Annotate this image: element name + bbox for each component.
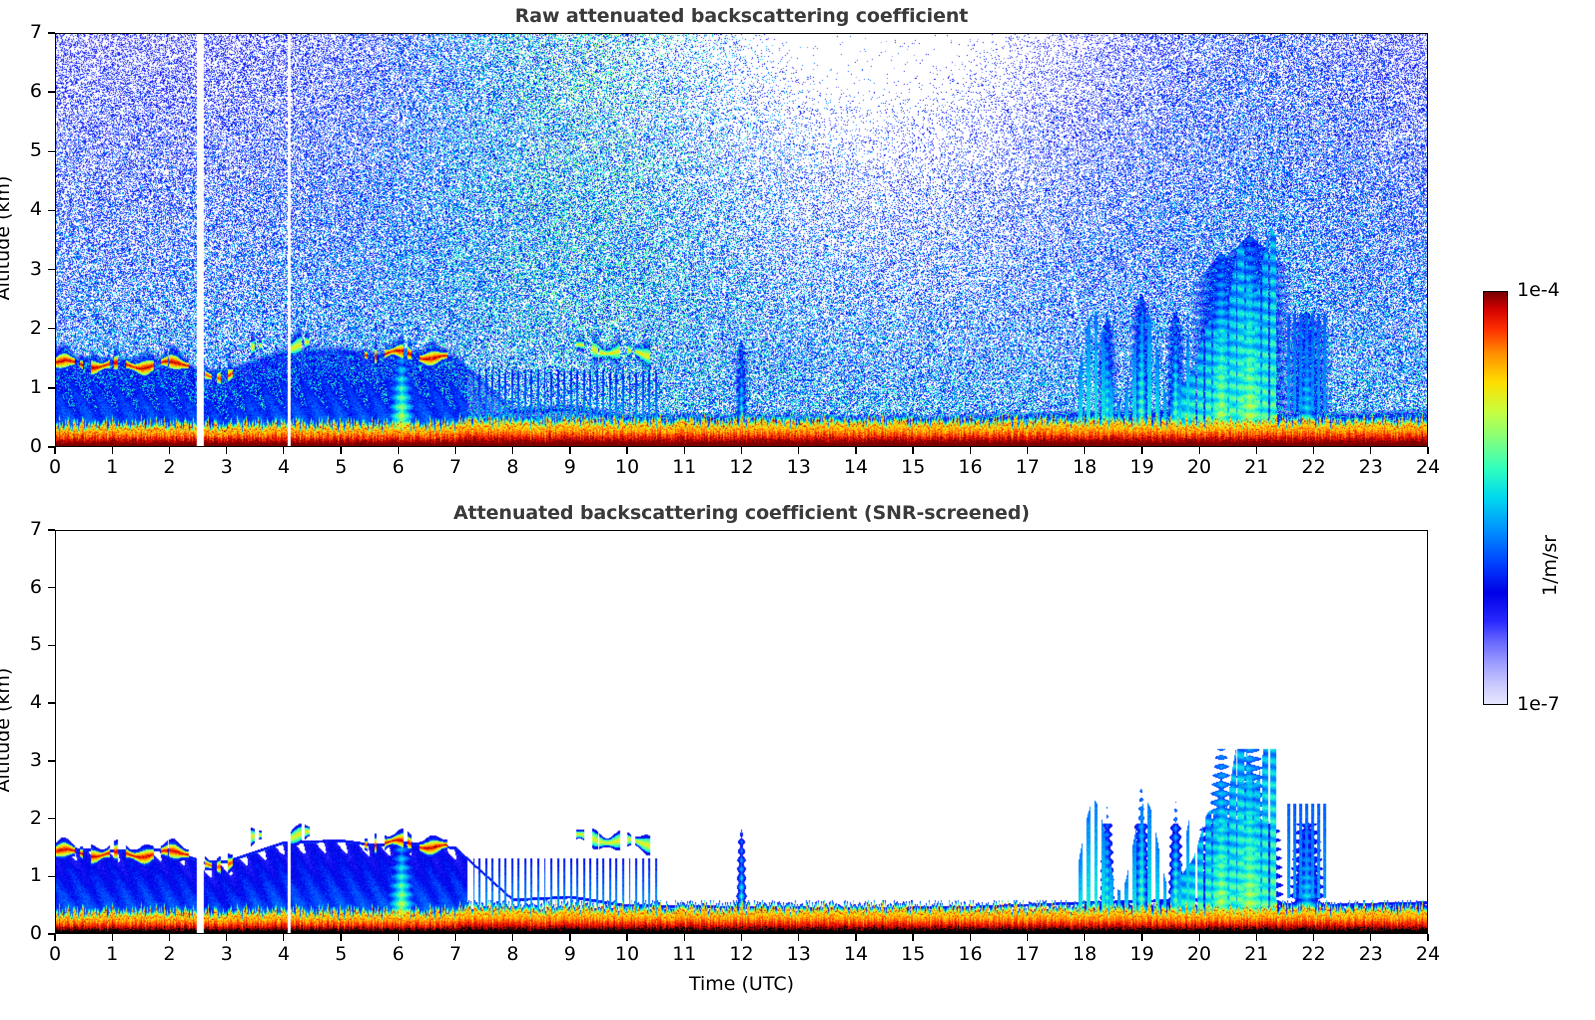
x-tick — [912, 934, 913, 941]
x-tick — [1141, 447, 1142, 454]
x-tick — [912, 447, 913, 454]
x-tick-label: 14 — [832, 943, 880, 965]
x-tick-label: 9 — [546, 456, 594, 478]
x-tick — [1199, 447, 1200, 454]
y-tick — [48, 587, 55, 588]
y-tick — [48, 151, 55, 152]
y-tick-label: 1 — [0, 864, 42, 886]
x-tick — [970, 934, 971, 941]
x-tick — [112, 934, 113, 941]
x-tick-label: 2 — [145, 456, 193, 478]
x-tick — [1084, 934, 1085, 941]
x-tick — [970, 447, 971, 454]
panel-title-screened: Attenuated backscattering coefficient (S… — [55, 502, 1428, 524]
x-tick — [741, 934, 742, 941]
x-tick — [569, 934, 570, 941]
colorbar-min-label: 1e-7 — [1517, 693, 1560, 715]
x-tick-label: 5 — [317, 456, 365, 478]
x-tick — [455, 934, 456, 941]
y-tick-label: 4 — [0, 198, 42, 220]
x-tick-label: 8 — [489, 456, 537, 478]
x-tick-label: 23 — [1347, 456, 1395, 478]
x-tick-label: 17 — [1004, 943, 1052, 965]
y-tick — [48, 818, 55, 819]
y-tick-label: 0 — [0, 435, 42, 457]
x-tick-label: 4 — [260, 943, 308, 965]
x-tick — [855, 447, 856, 454]
x-tick — [512, 934, 513, 941]
x-tick-label: 14 — [832, 456, 880, 478]
x-tick-label: 18 — [1061, 456, 1109, 478]
y-tick-label: 7 — [0, 21, 42, 43]
figure-root: Raw attenuated backscattering coefficien… — [0, 0, 1595, 1020]
x-tick-label: 21 — [1232, 943, 1280, 965]
x-tick — [226, 934, 227, 941]
x-tick — [169, 447, 170, 454]
x-tick — [398, 447, 399, 454]
x-tick — [455, 447, 456, 454]
x-tick-label: 22 — [1290, 456, 1338, 478]
x-tick — [1027, 934, 1028, 941]
x-tick-label: 0 — [31, 943, 79, 965]
x-tick — [1084, 447, 1085, 454]
x-tick-label: 13 — [775, 456, 823, 478]
x-tick-label: 0 — [31, 456, 79, 478]
colorbar-max-label: 1e-4 — [1517, 279, 1560, 301]
heatmap-canvas-screened — [56, 531, 1427, 933]
colorbar-gradient — [1484, 292, 1507, 704]
y-tick — [48, 269, 55, 270]
y-tick-label: 3 — [0, 258, 42, 280]
x-tick — [398, 934, 399, 941]
x-tick-label: 12 — [718, 943, 766, 965]
x-tick — [340, 447, 341, 454]
x-tick — [1427, 934, 1428, 941]
x-tick — [54, 934, 55, 941]
x-tick-label: 6 — [374, 456, 422, 478]
y-tick-label: 0 — [0, 922, 42, 944]
y-tick-label: 3 — [0, 749, 42, 771]
x-tick-label: 10 — [603, 943, 651, 965]
y-tick — [48, 328, 55, 329]
x-tick — [112, 447, 113, 454]
x-tick-label: 11 — [660, 943, 708, 965]
x-tick — [1370, 934, 1371, 941]
y-tick — [48, 645, 55, 646]
y-tick-label: 2 — [0, 807, 42, 829]
x-tick — [1256, 447, 1257, 454]
x-tick — [226, 447, 227, 454]
x-tick-label: 5 — [317, 943, 365, 965]
y-tick — [48, 702, 55, 703]
x-tick — [1427, 447, 1428, 454]
x-tick-label: 8 — [489, 943, 537, 965]
x-tick-label: 16 — [946, 943, 994, 965]
x-tick-label: 22 — [1290, 943, 1338, 965]
x-tick-label: 2 — [145, 943, 193, 965]
colorbar[interactable] — [1483, 291, 1508, 705]
y-tick-label: 5 — [0, 139, 42, 161]
y-tick — [48, 32, 55, 33]
x-tick — [1370, 447, 1371, 454]
y-tick-label: 6 — [0, 80, 42, 102]
x-tick-label: 10 — [603, 456, 651, 478]
y-tick — [48, 387, 55, 388]
x-tick-label: 11 — [660, 456, 708, 478]
x-tick — [798, 447, 799, 454]
y-tick-label: 7 — [0, 518, 42, 540]
y-tick — [48, 933, 55, 934]
x-tick-label: 21 — [1232, 456, 1280, 478]
x-tick-label: 18 — [1061, 943, 1109, 965]
x-tick-label: 19 — [1118, 943, 1166, 965]
x-tick-label: 15 — [889, 943, 937, 965]
x-tick-label: 24 — [1404, 456, 1452, 478]
y-tick-label: 1 — [0, 376, 42, 398]
x-tick — [684, 934, 685, 941]
y-tick — [48, 446, 55, 447]
x-tick-label: 3 — [203, 456, 251, 478]
y-tick — [48, 210, 55, 211]
x-tick — [626, 934, 627, 941]
y-tick — [48, 760, 55, 761]
x-tick — [741, 447, 742, 454]
x-tick-label: 20 — [1175, 943, 1223, 965]
x-tick — [283, 934, 284, 941]
x-tick — [1313, 447, 1314, 454]
x-tick-label: 24 — [1404, 943, 1452, 965]
heatmap-canvas-raw — [56, 34, 1427, 446]
x-axis-label: Time (UTC) — [55, 973, 1428, 995]
x-tick — [340, 934, 341, 941]
x-tick — [169, 934, 170, 941]
x-tick-label: 20 — [1175, 456, 1223, 478]
x-tick-label: 4 — [260, 456, 308, 478]
x-tick-label: 3 — [203, 943, 251, 965]
x-tick-label: 13 — [775, 943, 823, 965]
heatmap-panel-screened[interactable] — [55, 530, 1428, 934]
x-tick-label: 6 — [374, 943, 422, 965]
x-tick — [569, 447, 570, 454]
y-tick-label: 2 — [0, 317, 42, 339]
x-tick-label: 16 — [946, 456, 994, 478]
colorbar-unit-label: 1/m/sr — [1539, 396, 1561, 596]
heatmap-panel-raw[interactable] — [55, 33, 1428, 447]
x-tick-label: 15 — [889, 456, 937, 478]
x-tick-label: 1 — [88, 943, 136, 965]
x-tick — [626, 447, 627, 454]
x-tick — [684, 447, 685, 454]
y-tick-label: 4 — [0, 691, 42, 713]
x-tick-label: 17 — [1004, 456, 1052, 478]
x-tick — [1256, 934, 1257, 941]
x-tick — [1199, 934, 1200, 941]
x-tick — [798, 934, 799, 941]
y-tick — [48, 876, 55, 877]
x-tick — [512, 447, 513, 454]
x-tick-label: 9 — [546, 943, 594, 965]
x-tick — [1313, 934, 1314, 941]
x-tick-label: 12 — [718, 456, 766, 478]
x-tick — [855, 934, 856, 941]
x-tick-label: 19 — [1118, 456, 1166, 478]
y-tick-label: 5 — [0, 633, 42, 655]
x-tick — [1141, 934, 1142, 941]
x-tick-label: 23 — [1347, 943, 1395, 965]
x-tick-label: 7 — [431, 456, 479, 478]
y-tick-label: 6 — [0, 576, 42, 598]
y-tick — [48, 91, 55, 92]
x-tick — [283, 447, 284, 454]
panel-title-raw: Raw attenuated backscattering coefficien… — [55, 5, 1428, 27]
x-tick-label: 1 — [88, 456, 136, 478]
y-tick — [48, 529, 55, 530]
x-tick — [1027, 447, 1028, 454]
x-tick-label: 7 — [431, 943, 479, 965]
x-tick — [54, 447, 55, 454]
